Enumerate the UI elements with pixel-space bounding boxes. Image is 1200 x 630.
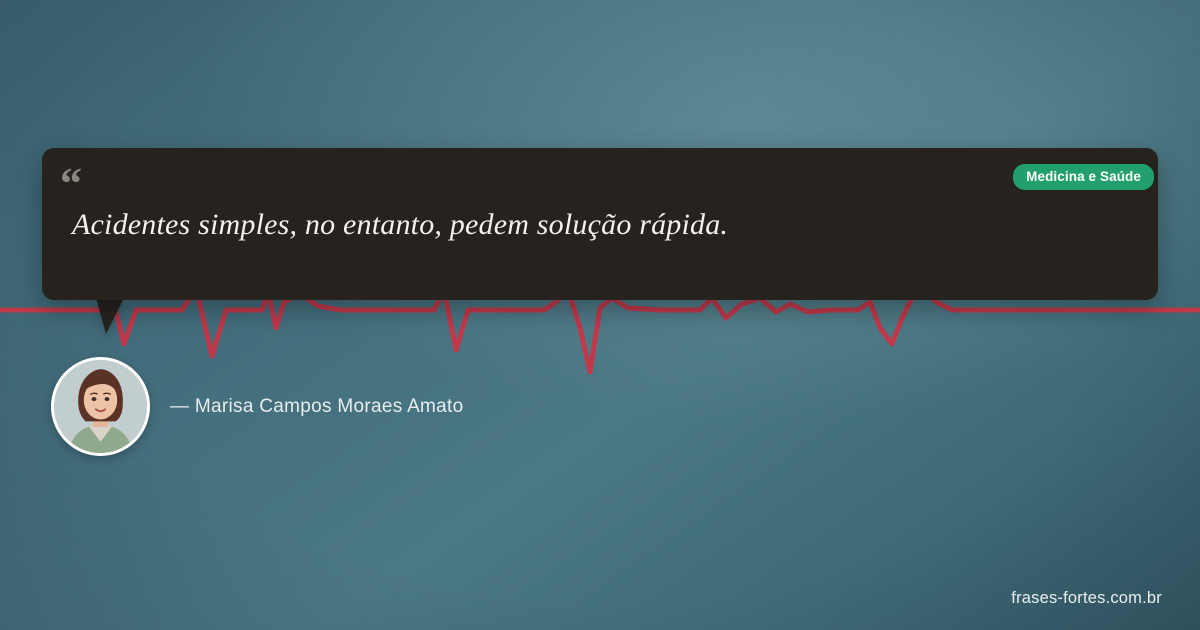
status-badge[interactable]: Medicina e Saúde <box>1013 164 1154 190</box>
quote-bubble-tail <box>96 298 124 334</box>
quote-text: Acidentes simples, no entanto, pedem sol… <box>72 205 1052 246</box>
avatar[interactable] <box>51 357 150 456</box>
quote-mark-icon: “ <box>60 162 81 206</box>
site-watermark: frases-fortes.com.br <box>1011 589 1162 608</box>
author-name: — Marisa Campos Moraes Amato <box>170 396 464 418</box>
